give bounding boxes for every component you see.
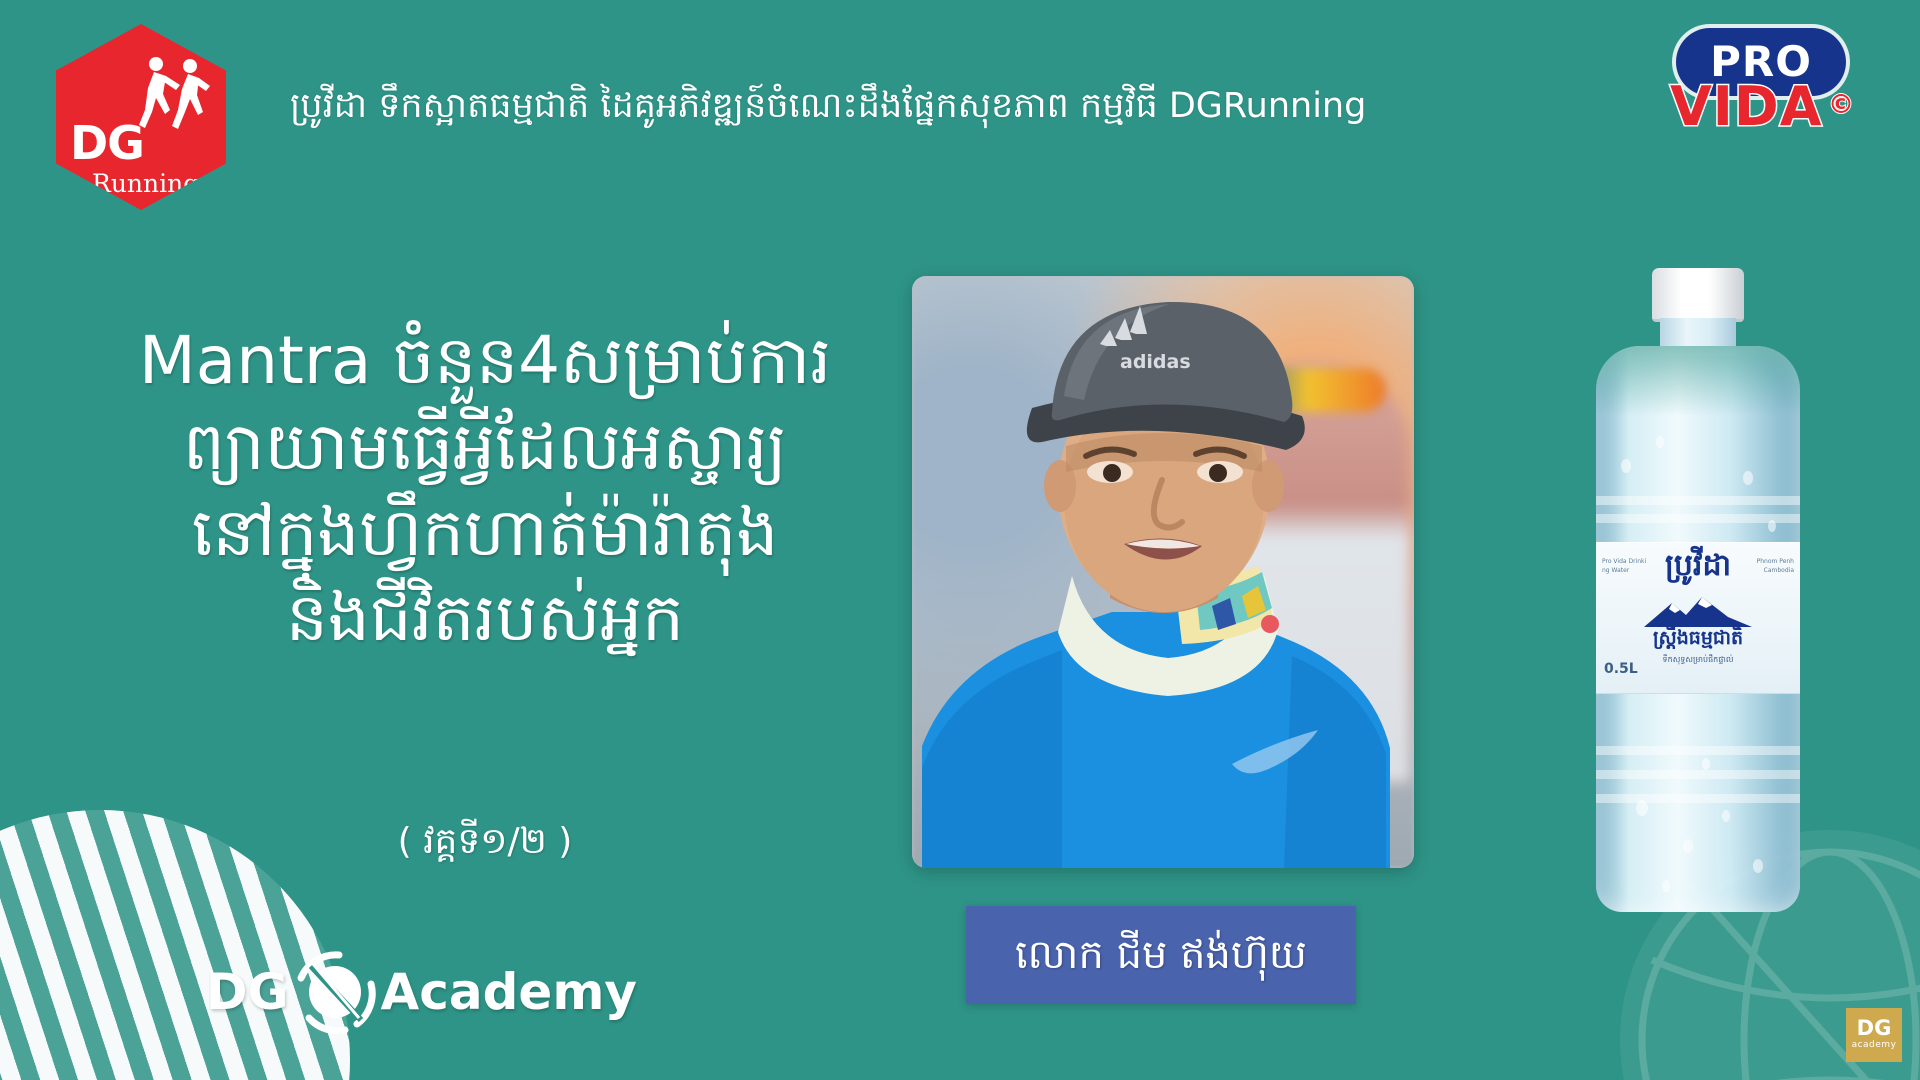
logo-dg-text: DG bbox=[70, 120, 144, 166]
provida-water-bottle: Pro Vida Drinking Water Phnom Penh Cambo… bbox=[1582, 268, 1814, 912]
dg-running-logo[interactable]: DG Running bbox=[56, 24, 226, 210]
bottle-tagline: ស្រ្តីងធម្មជាតិ bbox=[1596, 629, 1800, 648]
speaker-photo: adidas bbox=[912, 276, 1414, 868]
provida-vida-text: VIDA bbox=[1670, 80, 1823, 134]
headline-line-2: ព្យាយាមធ្វើអ្វីដែលអស្ចារ្យ bbox=[40, 404, 930, 490]
speaker-name-plate: លោក ជីម ឥង់ហ៊ុយ bbox=[966, 906, 1356, 1004]
header-bar: DG Running ប្រូវីដា ទឹកស្អាតធម្មជាតិ ដៃគ… bbox=[0, 0, 1920, 205]
bottle-label: Pro Vida Drinking Water Phnom Penh Cambo… bbox=[1596, 542, 1800, 694]
dg-academy-logo[interactable]: DG Academy bbox=[206, 944, 637, 1040]
bottle-body: Pro Vida Drinking Water Phnom Penh Cambo… bbox=[1596, 346, 1800, 912]
headline-line-4: និងជីវិតរបស់អ្នក bbox=[40, 575, 930, 661]
logo-running-text: Running bbox=[92, 171, 199, 196]
bottle-brand-name: ប្រូវីដា bbox=[1596, 551, 1800, 581]
hexagon-shape: DG Running bbox=[56, 24, 226, 210]
academy-academy-text: Academy bbox=[381, 963, 637, 1021]
watermark-dg-text: DG bbox=[1857, 1018, 1892, 1039]
bottle-size-label: 0.5L bbox=[1604, 661, 1638, 677]
academy-dg-text: DG bbox=[206, 963, 289, 1021]
mountain-icon bbox=[1642, 595, 1754, 629]
header-title: ប្រូវីដា ទឹកស្អាតធម្មជាតិ ដៃគូអភិវឌ្ឍន៍ច… bbox=[290, 85, 1620, 129]
slide-canvas: DG Running ប្រូវីដា ទឹកស្អាតធម្មជាតិ ដៃគ… bbox=[0, 0, 1920, 1080]
provida-sponsor-logo[interactable]: PRO VIDA © bbox=[1668, 28, 1858, 158]
globe-icon bbox=[287, 944, 383, 1040]
speaker-name-text: លោក ជីម ឥង់ហ៊ុយ bbox=[1015, 935, 1307, 975]
headline-line-1: Mantra ចំនួន4សម្រាប់ការ bbox=[40, 318, 930, 404]
watermark-academy-text: academy bbox=[1852, 1039, 1897, 1052]
copyright-icon: © bbox=[1828, 90, 1854, 120]
headline-line-3: នៅក្នុងហ្វឹកហាត់ម៉ារ៉ាតុង bbox=[40, 490, 930, 576]
bottle-cap bbox=[1652, 268, 1744, 322]
headline-block: Mantra ចំនួន4សម្រាប់ការ ព្យាយាមធ្វើអ្វីដ… bbox=[40, 318, 930, 661]
episode-label: ( វគ្គទី១/២ ) bbox=[40, 818, 930, 871]
dg-academy-watermark: DG academy bbox=[1846, 1008, 1902, 1062]
runner-portrait-illustration: adidas bbox=[912, 276, 1414, 868]
svg-text:adidas: adidas bbox=[1120, 351, 1191, 373]
